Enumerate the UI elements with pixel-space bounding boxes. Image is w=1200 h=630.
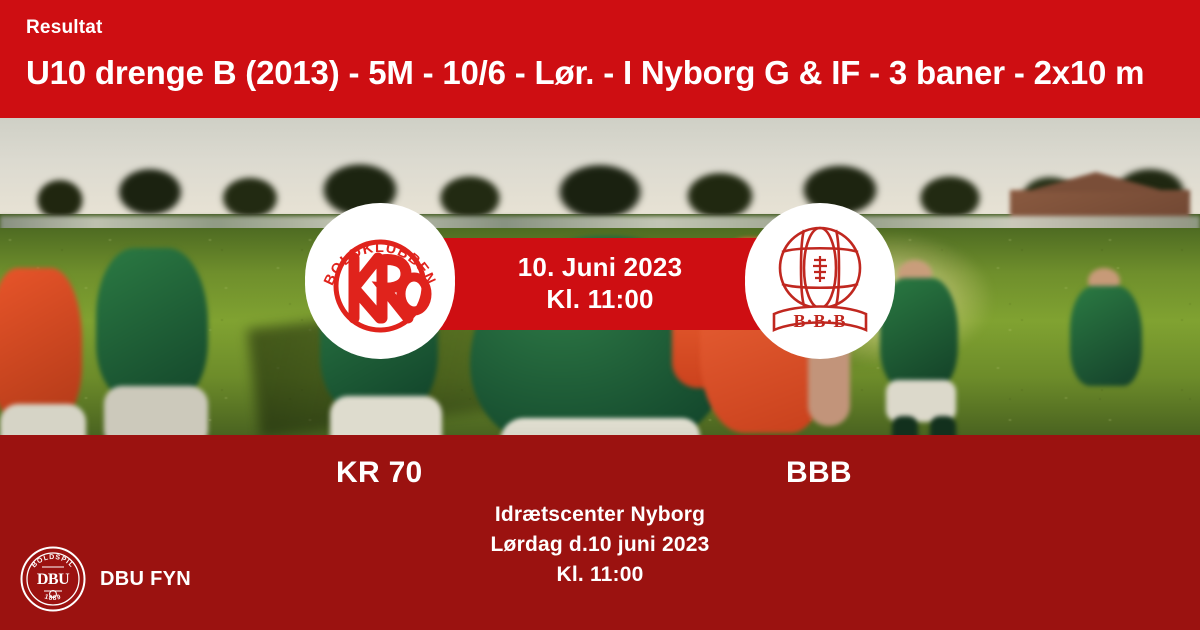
home-team-crest: BOLDKLUBBEN (305, 203, 455, 353)
match-time-long: Kl. 11:00 (556, 563, 643, 586)
photo-player-foreground (500, 418, 700, 435)
team-names-row: KR 70 BBB (0, 446, 1200, 500)
away-crest-banner-text: B·B·B (793, 311, 846, 331)
federation-name: DBU FYN (100, 568, 191, 591)
match-date-long: Lørdag d.10 juni 2023 (491, 533, 710, 556)
photo-player (892, 416, 918, 435)
match-date-band-text: 10. Juni 2023 Kl. 11:00 (420, 238, 780, 330)
match-venue: Idrætscenter Nyborg (495, 503, 705, 526)
federation-branding: BOLDSPIL 1889 DBU DBU FYN (20, 546, 191, 612)
header-kicker: Resultat (26, 18, 1200, 37)
dbu-seal-icon: BOLDSPIL 1889 DBU (20, 546, 86, 612)
kr70-club-crest-icon: BOLDKLUBBEN (314, 212, 446, 344)
home-team-name: KR 70 (336, 456, 423, 490)
photo-player (96, 248, 208, 398)
match-time: Kl. 11:00 (546, 285, 653, 315)
match-date: 10. Juni 2023 (518, 253, 682, 283)
photo-player (1070, 286, 1142, 386)
away-team-crest: B·B·B (745, 203, 895, 353)
dbu-seal-monogram: DBU (37, 571, 70, 588)
photo-player (930, 416, 956, 435)
photo-player (0, 404, 86, 435)
photo-player (330, 396, 442, 435)
bbb-club-crest-icon: B·B·B (756, 214, 884, 342)
photo-player (104, 386, 208, 435)
page-title: U10 drenge B (2013) - 5M - 10/6 - Lør. -… (26, 56, 1200, 89)
result-header: Resultat U10 drenge B (2013) - 5M - 10/6… (0, 0, 1200, 118)
away-team-name: BBB (786, 456, 852, 490)
photo-player (0, 268, 82, 418)
